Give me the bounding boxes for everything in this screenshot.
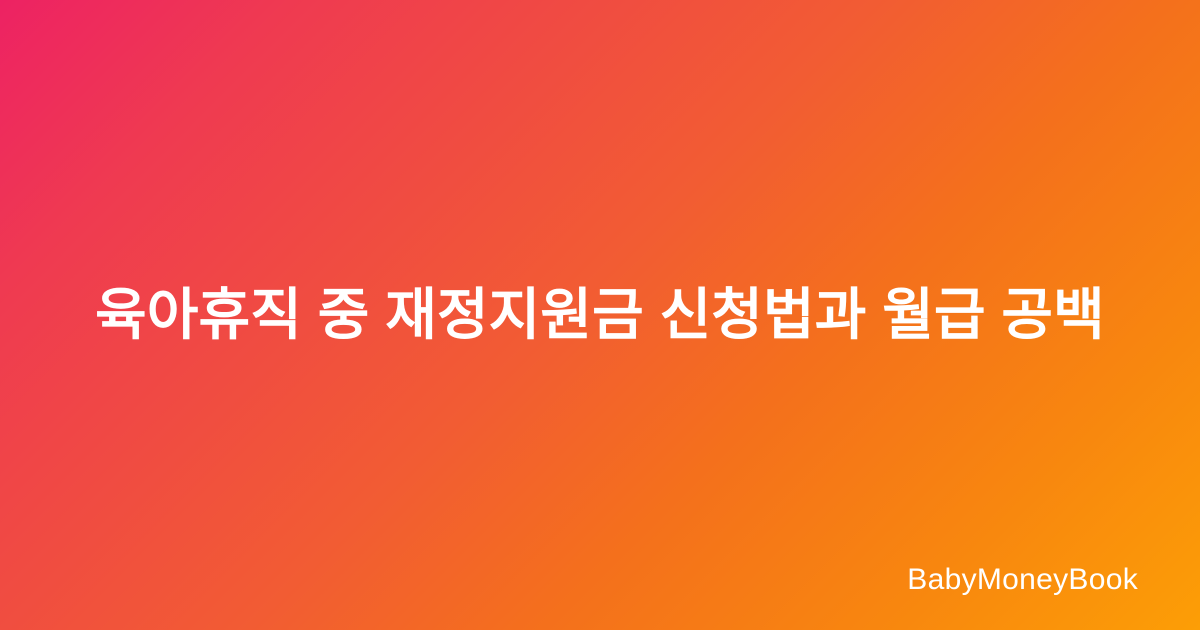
page-title: 육아휴직 중 재정지원금 신청법과 월급 공백 xyxy=(90,274,1110,356)
og-card: 육아휴직 중 재정지원금 신청법과 월급 공백 BabyMoneyBook xyxy=(0,0,1200,630)
title-container: 육아휴직 중 재정지원금 신청법과 월급 공백 xyxy=(0,0,1200,630)
brand-name: BabyMoneyBook xyxy=(907,562,1138,598)
